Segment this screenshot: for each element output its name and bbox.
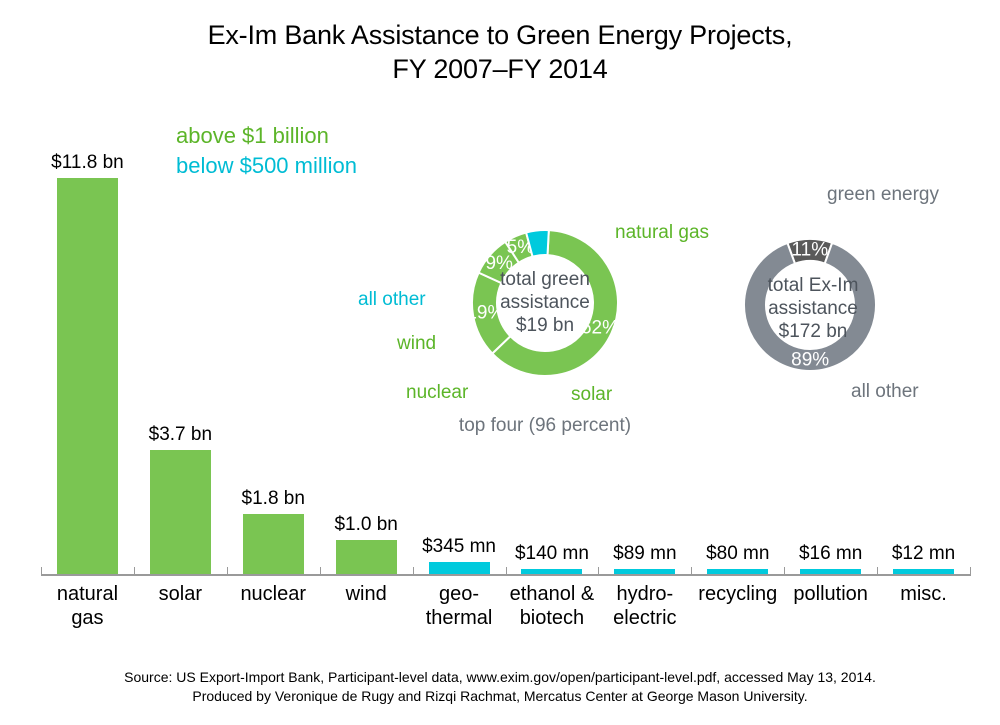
- donut-slice-percent: 89%: [791, 349, 829, 370]
- category-label-line: pollution: [793, 583, 868, 605]
- x-axis-tick: [598, 567, 599, 576]
- label-wind: wind: [397, 333, 436, 355]
- x-axis-tick: [134, 567, 135, 576]
- category-label-line: biotech: [520, 607, 585, 629]
- donut-slice-percent: 11%: [791, 240, 828, 261]
- x-axis-tick: [320, 567, 321, 576]
- category-label-line: misc.: [900, 583, 947, 605]
- donut-center-line: $19 bn: [480, 314, 610, 337]
- x-axis-tick: [877, 567, 878, 576]
- bar-value-label: $3.7 bn: [105, 424, 255, 446]
- donut-center-line: assistance: [480, 291, 610, 314]
- category-label-line: solar: [159, 583, 202, 605]
- bar-recycling[interactable]: [707, 569, 768, 574]
- bar-value-label: $1.0 bn: [291, 514, 441, 536]
- bar-value-label: $1.8 bn: [198, 488, 348, 510]
- x-axis-tick: [784, 567, 785, 576]
- category-label-line: natural: [57, 583, 118, 605]
- x-axis-tick: [413, 567, 414, 576]
- x-axis-tick: [970, 567, 971, 576]
- bar-value-label: $12 mn: [849, 543, 999, 565]
- green-donut-center-text: total greenassistance$19 bn: [480, 268, 610, 337]
- bar-natural-gas[interactable]: [57, 178, 118, 574]
- category-label-line: thermal: [426, 607, 493, 629]
- label-solar: solar: [571, 384, 612, 406]
- x-axis-tick: [691, 567, 692, 576]
- donut-center-line: total Ex-Im: [748, 274, 878, 297]
- category-label-line: gas: [71, 607, 103, 629]
- donut-center-line: assistance: [748, 297, 878, 320]
- x-axis-tick: [506, 567, 507, 576]
- category-label-line: electric: [613, 607, 676, 629]
- x-axis-tick: [41, 567, 42, 576]
- bar-hydro-electric[interactable]: [614, 569, 675, 574]
- category-label-line: hydro-: [616, 583, 673, 605]
- x-axis-category-label: misc.: [864, 582, 984, 606]
- source-line-2: Produced by Veronique de Rugy and Rizqi …: [0, 687, 1000, 706]
- category-label-line: geo-: [439, 583, 479, 605]
- label-all-other-gray: all other: [851, 381, 919, 403]
- label-nuclear: nuclear: [406, 382, 468, 404]
- bar-value-label: $11.8 bn: [12, 152, 162, 174]
- category-label-line: ethanol &: [510, 583, 595, 605]
- source-line-1: Source: US Export-Import Bank, Participa…: [0, 668, 1000, 687]
- label-green-energy: green energy: [827, 184, 939, 206]
- chart-canvas: Ex-Im Bank Assistance to Green Energy Pr…: [0, 0, 1000, 725]
- label-all-other-green: all other: [358, 289, 426, 311]
- bar-solar[interactable]: [150, 450, 211, 574]
- x-axis-tick: [227, 567, 228, 576]
- green-donut-caption: top four (96 percent): [425, 415, 665, 437]
- category-label-line: wind: [346, 583, 387, 605]
- category-label-line: nuclear: [240, 583, 306, 605]
- bar-ethanol-biotech[interactable]: [521, 569, 582, 574]
- source-note: Source: US Export-Import Bank, Participa…: [0, 668, 1000, 706]
- donut-center-line: total green: [480, 268, 610, 291]
- bar-misc-[interactable]: [893, 569, 954, 574]
- gray-donut-center-text: total Ex-Imassistance$172 bn: [748, 274, 878, 343]
- bar-pollution[interactable]: [800, 569, 861, 574]
- donut-center-line: $172 bn: [748, 320, 878, 343]
- label-natural-gas: natural gas: [615, 222, 709, 244]
- category-label-line: recycling: [698, 583, 777, 605]
